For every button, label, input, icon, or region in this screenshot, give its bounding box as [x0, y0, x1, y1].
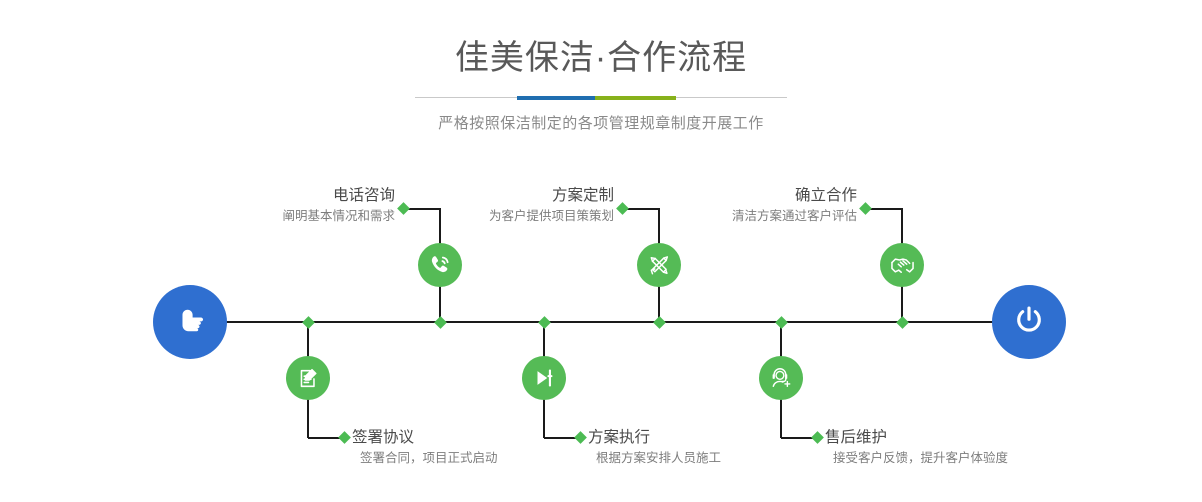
step-6-label: 售后维护 接受客户反馈，提升客户体验度	[825, 428, 1008, 467]
step-1-icon-node[interactable]	[418, 243, 462, 287]
customer-service-add-icon	[769, 366, 794, 391]
process-flow-infographic: 佳美保洁·合作流程 严格按照保洁制定的各项管理规章制度开展工作	[0, 0, 1202, 502]
step-1-label-marker	[397, 202, 410, 215]
step-6-title: 售后维护	[825, 428, 1008, 447]
step-2-title: 签署协议	[352, 428, 498, 447]
step-4-label: 方案执行 根据方案安排人员施工	[588, 428, 721, 467]
step-3-axis-marker	[653, 316, 666, 329]
step-3-label-marker	[616, 202, 629, 215]
step-6-axis-marker	[775, 316, 788, 329]
pencil-ruler-icon	[647, 253, 672, 278]
step-2-subtitle: 签署合同，项目正式启动	[352, 447, 498, 467]
step-1-title: 电话咨询	[219, 186, 395, 205]
pointing-hand-icon	[171, 301, 209, 344]
step-3-label: 方案定制 为客户提供项目策策划	[438, 186, 614, 225]
timeline-start-node[interactable]	[153, 285, 227, 359]
handshake-icon	[889, 252, 916, 279]
step-4-icon-node[interactable]	[522, 356, 566, 400]
step-5-label-marker	[859, 202, 872, 215]
timeline-end-node[interactable]	[992, 285, 1066, 359]
step-2-label: 签署协议 签署合同，项目正式启动	[352, 428, 498, 467]
step-5-icon-node[interactable]	[880, 243, 924, 287]
step-1-label: 电话咨询 阐明基本情况和需求	[219, 186, 395, 225]
document-edit-icon	[296, 366, 321, 391]
step-3-icon-node[interactable]	[637, 243, 681, 287]
step-6-subtitle: 接受客户反馈，提升客户体验度	[825, 447, 1008, 467]
phone-call-icon	[427, 252, 453, 278]
step-4-label-marker	[574, 431, 587, 444]
step-3-title: 方案定制	[438, 186, 614, 205]
step-1-subtitle: 阐明基本情况和需求	[219, 205, 395, 225]
play-execute-icon	[531, 365, 557, 391]
step-2-label-marker	[338, 431, 351, 444]
step-1-axis-marker	[434, 316, 447, 329]
step-5-axis-marker	[896, 316, 909, 329]
step-5-subtitle: 清洁方案通过客户评估	[681, 205, 857, 225]
step-4-subtitle: 根据方案安排人员施工	[588, 447, 721, 467]
step-2-axis-marker	[302, 316, 315, 329]
step-3-subtitle: 为客户提供项目策策划	[438, 205, 614, 225]
step-6-icon-node[interactable]	[759, 356, 803, 400]
step-5-label: 确立合作 清洁方案通过客户评估	[681, 186, 857, 225]
timeline: 电话咨询 阐明基本情况和需求 签署协议 签署合同，项目正式启动	[0, 0, 1202, 502]
step-4-axis-marker	[538, 316, 551, 329]
step-6-label-marker	[811, 431, 824, 444]
step-2-icon-node[interactable]	[286, 356, 330, 400]
step-5-title: 确立合作	[681, 186, 857, 205]
power-icon	[1010, 301, 1048, 344]
step-4-title: 方案执行	[588, 428, 721, 447]
